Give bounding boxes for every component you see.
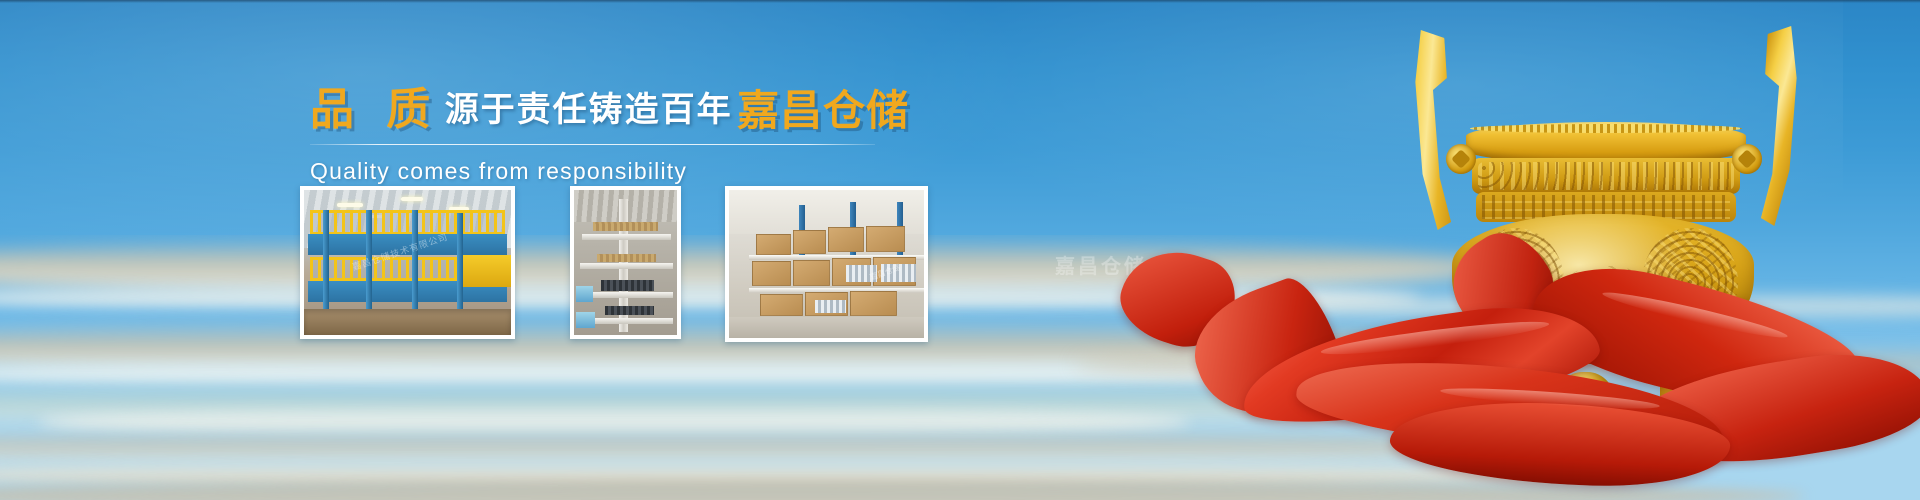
- photo-strip: 嘉昌仓储技术有限公司: [300, 186, 928, 342]
- hero-banner: 品 质 源于责任铸造百年 嘉昌仓储 Quality comes from res…: [0, 0, 1920, 500]
- top-edge-shadow: [0, 0, 1920, 3]
- cantilever-racking-photo[interactable]: [570, 186, 681, 339]
- headline-white-middle: 源于责任铸造百年: [445, 93, 733, 127]
- ding-neck-scroll-band: [1472, 158, 1740, 194]
- carton-shelving-photo[interactable]: 嘉昌仓储: [725, 186, 928, 342]
- cloud-band: [0, 481, 1805, 500]
- headline-block: 品 质 源于责任铸造百年 嘉昌仓储 Quality comes from res…: [310, 88, 910, 185]
- warehouse-mezzanine-racking-photo[interactable]: 嘉昌仓储技术有限公司: [300, 186, 515, 339]
- headline: 品 质 源于责任铸造百年 嘉昌仓储: [310, 88, 910, 132]
- photo-floor: [729, 317, 924, 338]
- headline-gold-lead: 品 质: [310, 88, 440, 132]
- photo-upper-guardrail: [310, 210, 505, 235]
- ding-handle-right: [1747, 26, 1810, 226]
- headline-divider: [310, 144, 875, 145]
- photo-yellow-panel: [457, 255, 511, 287]
- subtitle-text: Quality comes from responsibility: [310, 158, 910, 185]
- photo-pallet-row: [304, 309, 511, 335]
- ding-ring-boss-right: [1732, 144, 1762, 174]
- headline-brand-name: 嘉昌仓储: [737, 90, 909, 132]
- ding-ring-boss-left: [1446, 144, 1476, 174]
- ding-rim-beading: [1470, 124, 1742, 133]
- ding-handle-left: [1401, 30, 1464, 230]
